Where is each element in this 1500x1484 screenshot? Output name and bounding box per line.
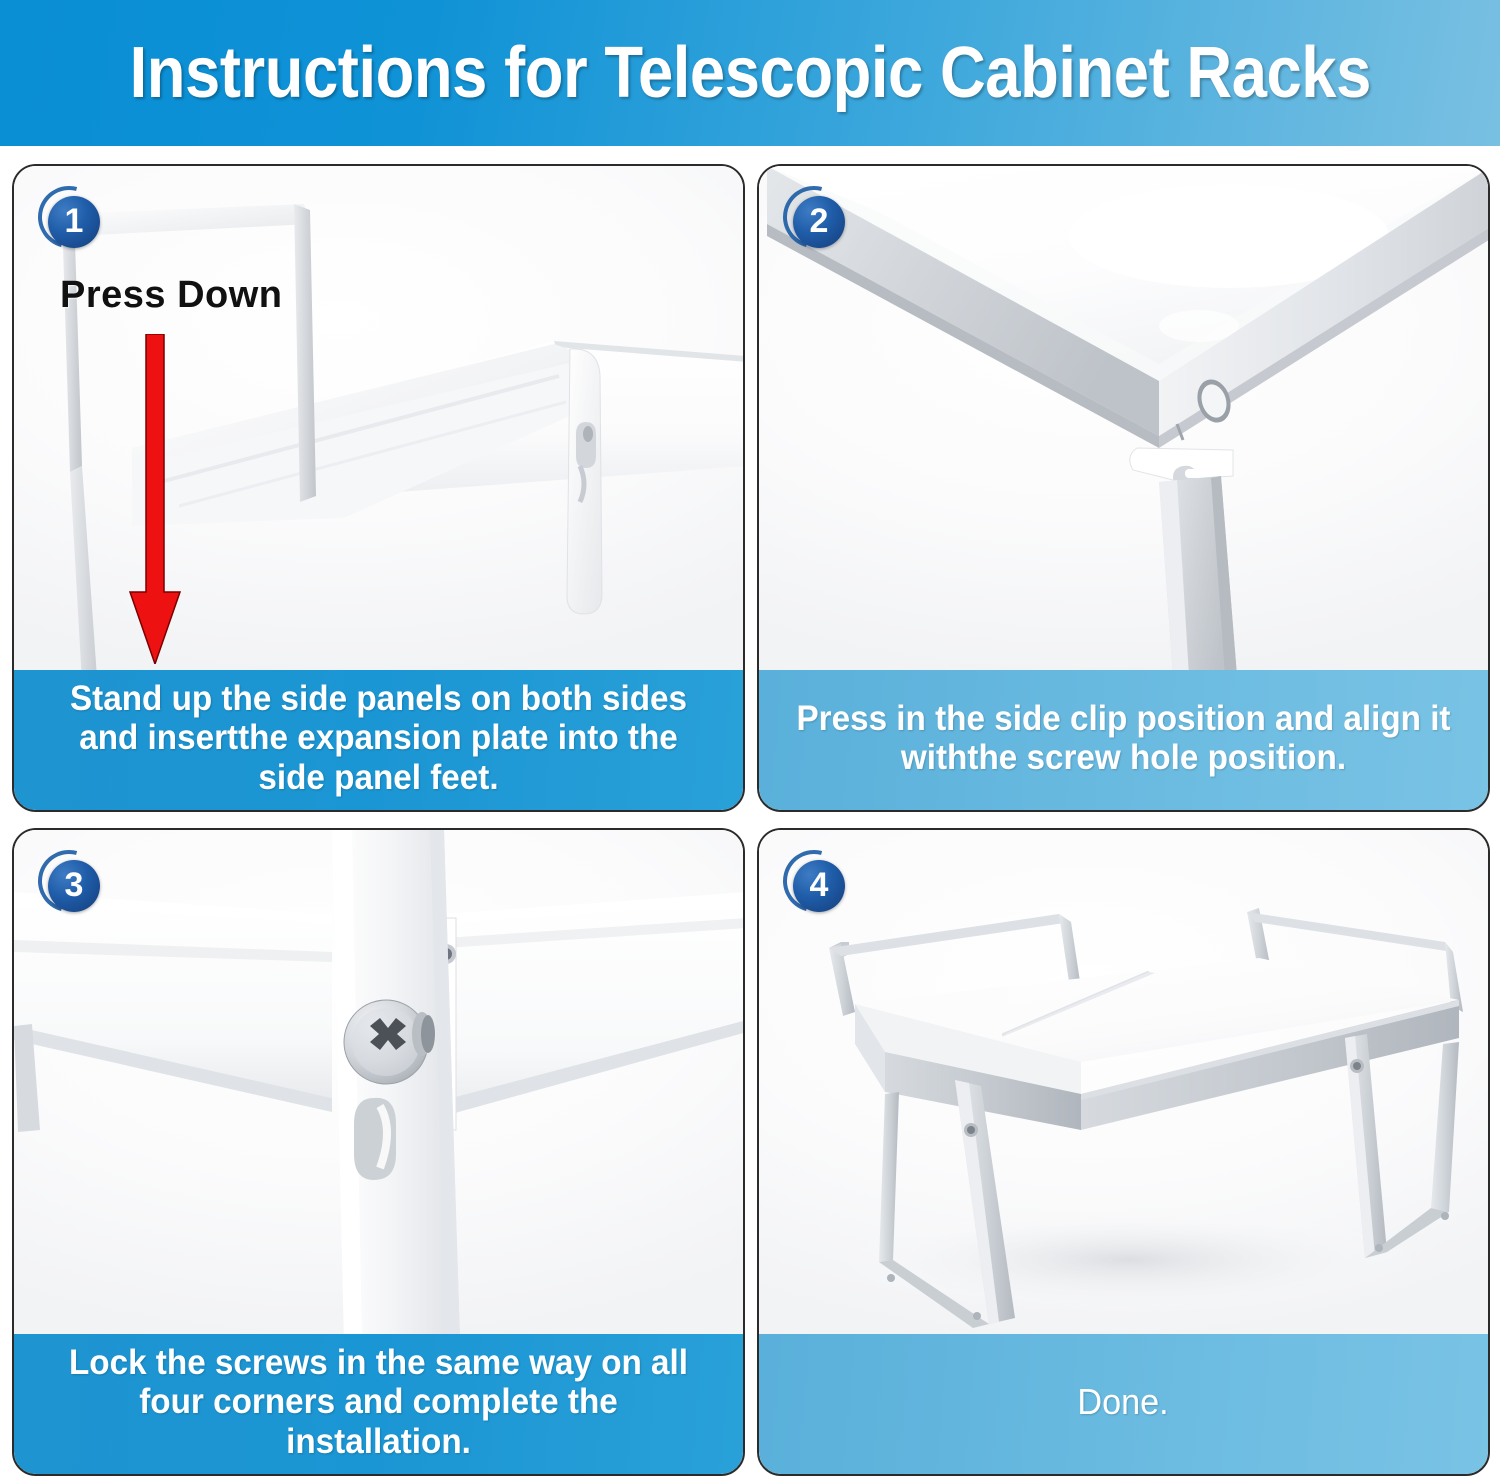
step-caption-text: Done. — [1078, 1382, 1169, 1422]
step-caption-3: Lock the screws in the same way on all f… — [14, 1334, 743, 1474]
assembled-rack-illustration-4 — [759, 830, 1488, 1340]
step-number: 1 — [65, 204, 84, 238]
press-down-label: Press Down — [60, 274, 283, 317]
corner-clip-illustration-2 — [759, 166, 1488, 676]
badge-disc: 1 — [48, 196, 100, 248]
step-panel-2: 2 Press in the side clip position and al… — [757, 164, 1490, 812]
step-caption-2: Press in the side clip position and alig… — [759, 670, 1488, 810]
step-photo-1: Press Down — [14, 166, 743, 676]
step-photo-4 — [759, 830, 1488, 1340]
step-panel-3: 3 Lock the screws in the same way on all… — [12, 828, 745, 1476]
step-badge-3: 3 — [38, 850, 106, 918]
step-badge-4: 4 — [783, 850, 851, 918]
step-badge-1: 1 — [38, 186, 106, 254]
step-caption-4: Done. — [759, 1334, 1488, 1474]
step-photo-2 — [759, 166, 1488, 676]
instruction-step-grid: Press Down 1 Stand up the side panels on… — [12, 164, 1490, 1476]
page-header: Instructions for Telescopic Cabinet Rack… — [0, 0, 1500, 146]
step-photo-3 — [14, 830, 743, 1340]
step-caption-1: Stand up the side panels on both sides a… — [14, 670, 743, 810]
step-panel-4: 4 Done. — [757, 828, 1490, 1476]
step-badge-2: 2 — [783, 186, 851, 254]
page-title: Instructions for Telescopic Cabinet Rack… — [129, 37, 1370, 109]
press-down-arrow-icon — [120, 334, 190, 664]
step-number: 3 — [65, 868, 84, 902]
step-number: 4 — [810, 868, 829, 902]
badge-disc: 3 — [48, 860, 100, 912]
screw-lock-illustration-3 — [14, 830, 743, 1340]
step-caption-text: Press in the side clip position and alig… — [794, 699, 1452, 777]
step-panel-1: Press Down 1 Stand up the side panels on… — [12, 164, 745, 812]
step-caption-text: Lock the screws in the same way on all f… — [49, 1343, 707, 1461]
step-number: 2 — [810, 204, 829, 238]
badge-disc: 2 — [793, 196, 845, 248]
step-caption-text: Stand up the side panels on both sides a… — [49, 679, 707, 797]
badge-disc: 4 — [793, 860, 845, 912]
